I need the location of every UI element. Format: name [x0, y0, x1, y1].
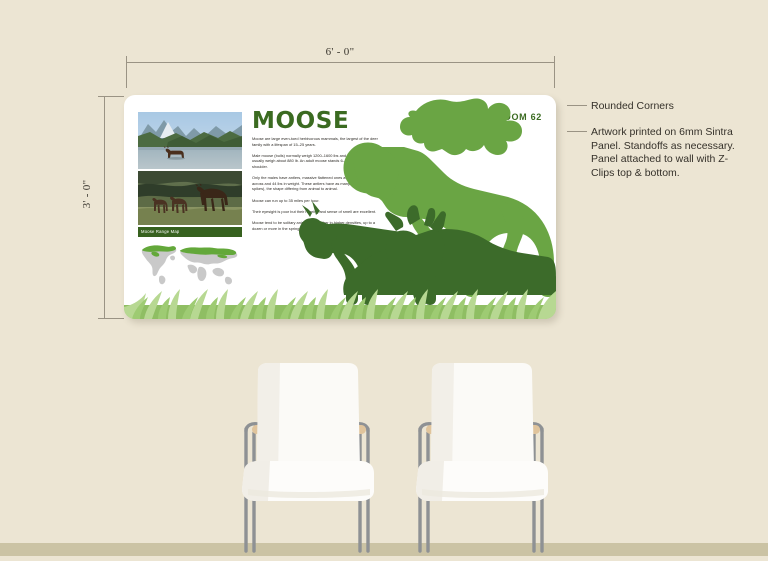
- room-scene: 6' - 0" 3' - 0" Rounded Corners Artwork …: [0, 0, 768, 556]
- grass-illustration: [124, 273, 556, 319]
- annotation-rounded-corners: Rounded Corners: [591, 100, 751, 114]
- leader-line-rounded-corners: [567, 105, 587, 106]
- chair-left: [236, 363, 384, 556]
- moose-signage-panel: Moose Range Map: [124, 95, 556, 319]
- height-dimension-tick-bottom: [98, 318, 124, 319]
- height-dimension-tick-top: [98, 96, 124, 97]
- annotation-panel-construction: Artwork printed on 6mm Sintra Panel. Sta…: [591, 126, 751, 180]
- width-dimension-tick-right: [554, 56, 555, 88]
- height-dimension-label: 3' - 0": [81, 169, 93, 219]
- width-dimension-tick-left: [126, 56, 127, 88]
- height-dimension-line: [104, 96, 105, 318]
- chair-right: [410, 363, 558, 556]
- floor-surface: [0, 543, 768, 556]
- width-dimension-label: 6' - 0": [0, 46, 680, 58]
- width-dimension-line: [126, 62, 554, 63]
- leader-line-panel-construction: [567, 131, 587, 132]
